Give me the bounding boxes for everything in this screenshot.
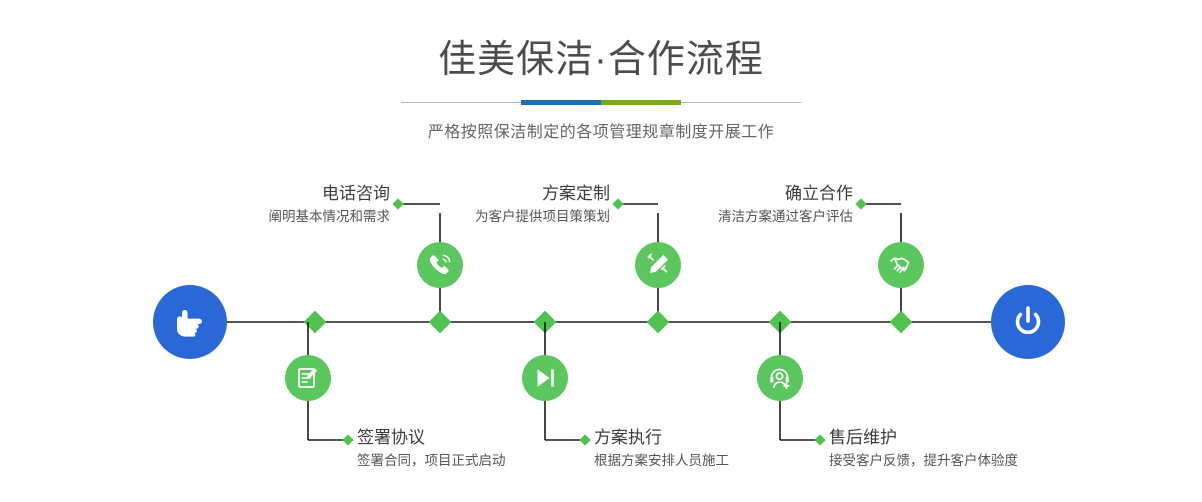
node-step-1[interactable] bbox=[417, 242, 463, 288]
title-divider bbox=[401, 100, 801, 106]
marker-step-5-spine bbox=[890, 311, 913, 334]
play-execute-icon bbox=[532, 365, 558, 391]
end-endpoint[interactable] bbox=[991, 285, 1065, 359]
caption-step-5: 确立合作 清洁方案通过客户评估 bbox=[561, 183, 853, 227]
caption-step-6: 售后维护 接受客户反馈，提升客户体验度 bbox=[829, 427, 1139, 471]
marker-spine-a bbox=[304, 311, 327, 334]
node-step-3[interactable] bbox=[635, 242, 681, 288]
pointing-hand-icon bbox=[170, 302, 210, 342]
divider-green-segment bbox=[601, 100, 681, 105]
customer-service-icon bbox=[767, 365, 793, 391]
caption-step-6-desc: 接受客户反馈，提升客户体验度 bbox=[829, 449, 1139, 471]
marker-step-2-label bbox=[342, 434, 353, 445]
caption-step-5-title: 确立合作 bbox=[561, 183, 853, 205]
node-step-2[interactable] bbox=[285, 355, 331, 401]
caption-step-6-title: 售后维护 bbox=[829, 427, 1139, 449]
pencil-design-icon bbox=[645, 252, 671, 278]
handshake-icon bbox=[888, 252, 914, 278]
process-flow-diagram: 电话咨询 阐明基本情况和需求 方案定制 为客户提供项目策策划 确立合作 清洁方案… bbox=[0, 150, 1202, 502]
divider-blue-segment bbox=[521, 100, 601, 105]
page-title: 佳美保洁·合作流程 bbox=[0, 0, 1202, 84]
power-icon bbox=[1008, 302, 1048, 342]
marker-step-5-label bbox=[855, 198, 866, 209]
node-step-5[interactable] bbox=[878, 242, 924, 288]
caption-step-5-desc: 清洁方案通过客户评估 bbox=[561, 205, 853, 227]
page-subtitle: 严格按照保洁制定的各项管理规章制度开展工作 bbox=[0, 106, 1202, 142]
marker-step-1-spine bbox=[429, 311, 452, 334]
node-step-4[interactable] bbox=[522, 355, 568, 401]
document-edit-icon bbox=[295, 365, 321, 391]
flow-chart-page: 佳美保洁·合作流程 严格按照保洁制定的各项管理规章制度开展工作 bbox=[0, 0, 1202, 502]
start-endpoint[interactable] bbox=[153, 285, 227, 359]
marker-step-3-spine bbox=[647, 311, 670, 334]
node-step-6[interactable] bbox=[757, 355, 803, 401]
page-header: 佳美保洁·合作流程 严格按照保洁制定的各项管理规章制度开展工作 bbox=[0, 0, 1202, 142]
phone-call-icon bbox=[427, 252, 453, 278]
